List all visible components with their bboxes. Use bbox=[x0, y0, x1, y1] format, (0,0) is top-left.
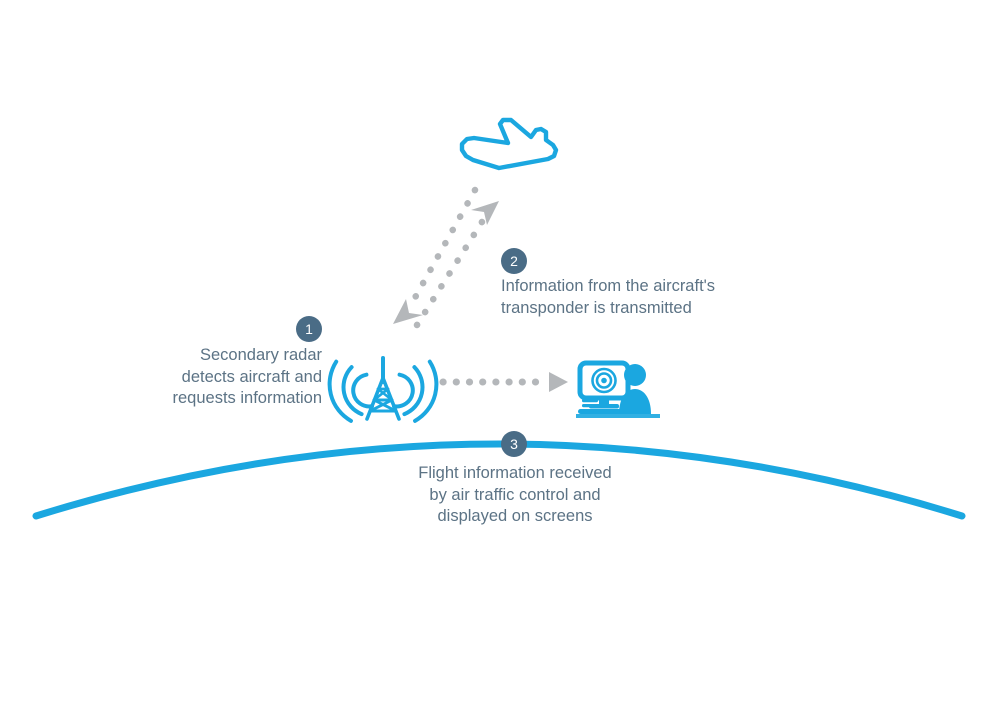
diagram-canvas: 1 Secondary radar detects aircraft and r… bbox=[0, 0, 1000, 708]
step-badge-3: 3 bbox=[501, 431, 527, 457]
step-caption-1: Secondary radar detects aircraft and req… bbox=[120, 345, 322, 410]
airplane-icon bbox=[462, 120, 556, 168]
dotted-arrow-up-right bbox=[417, 201, 499, 325]
controller-workstation-icon bbox=[576, 363, 660, 418]
dotted-arrow-right bbox=[443, 372, 568, 392]
step-caption-3: Flight information received by air traff… bbox=[395, 463, 635, 528]
radar-tower-icon bbox=[323, 358, 442, 424]
step-badge-2: 2 bbox=[501, 248, 527, 274]
step-badge-1: 1 bbox=[296, 316, 322, 342]
dotted-arrow-down-left bbox=[393, 190, 475, 324]
step-caption-2: Information from the aircraft's transpon… bbox=[501, 276, 761, 319]
